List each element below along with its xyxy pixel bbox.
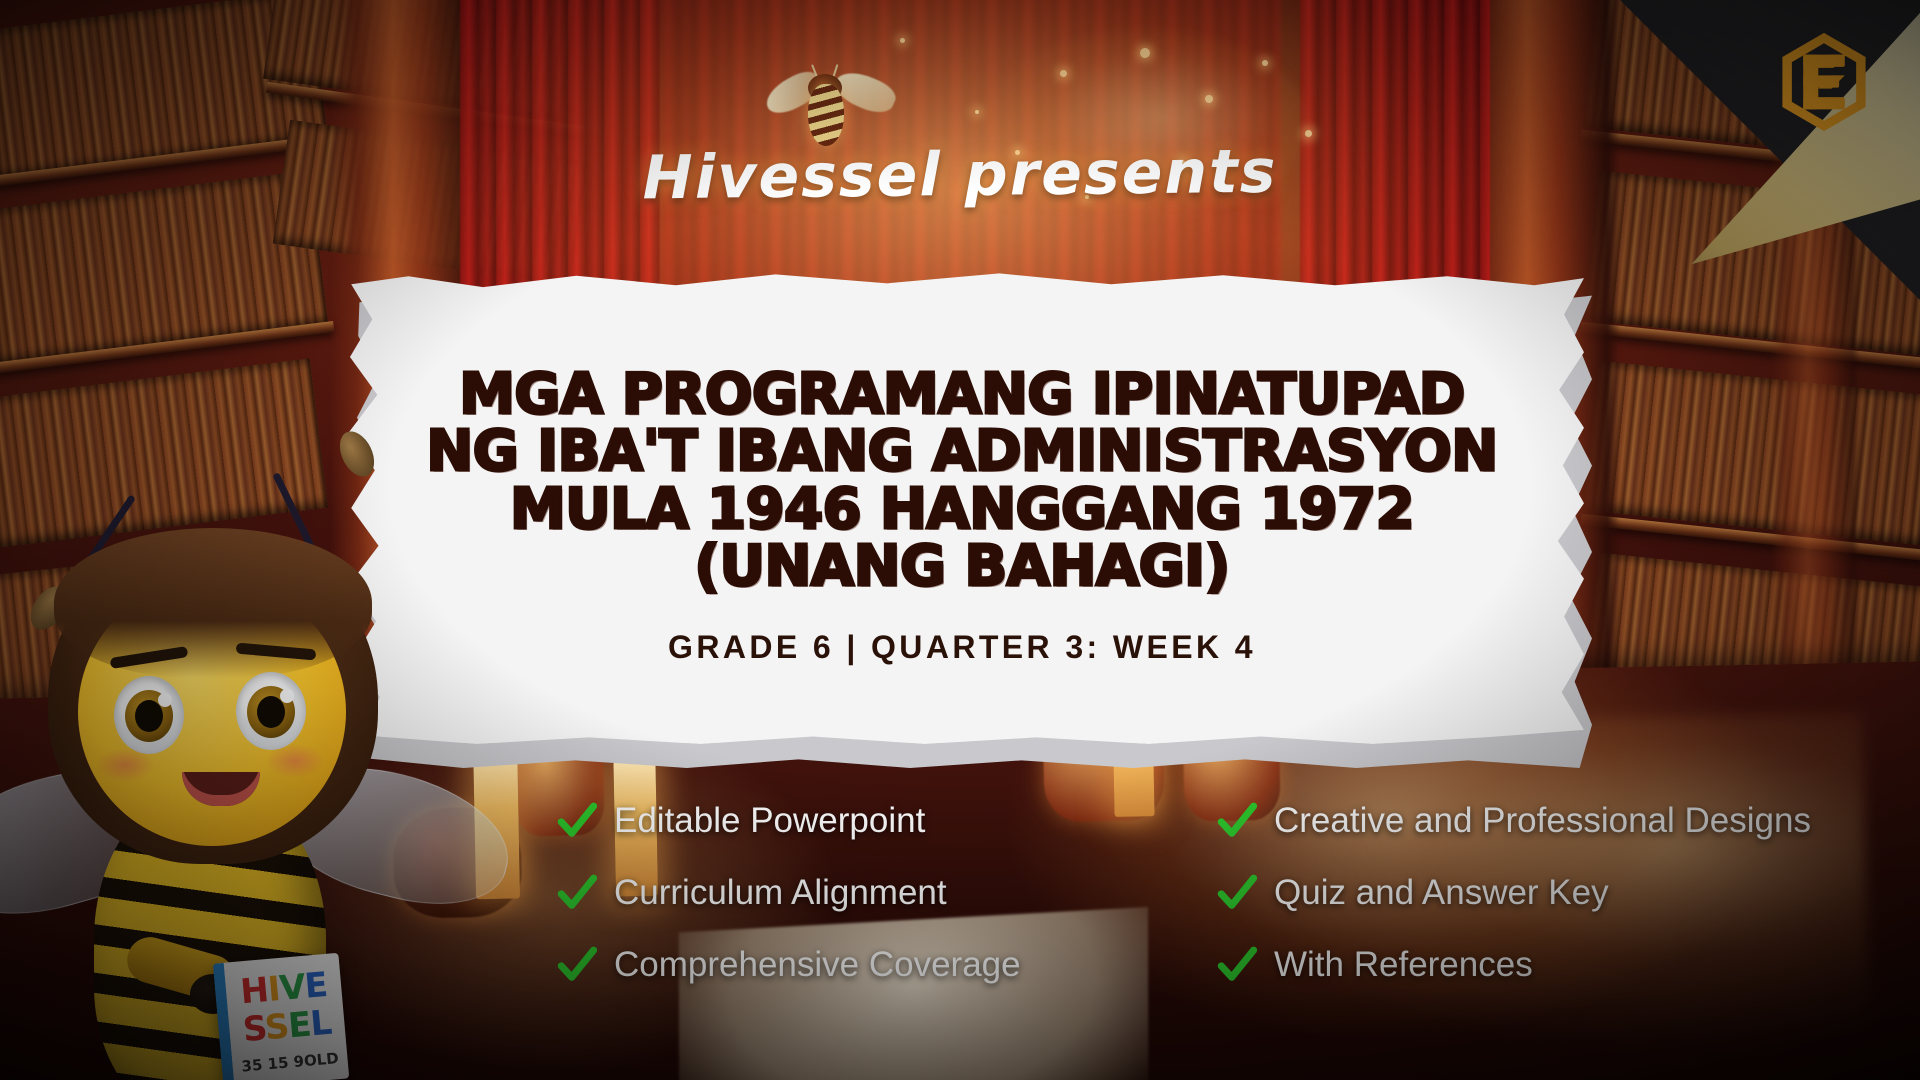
title-card-content: MGA PROGRAMANG IPINATUPAD NG IBA'T IBANG… [340, 272, 1584, 744]
bee-body [808, 84, 844, 146]
page-curl-corner [1620, 0, 1920, 300]
mascot-blush-left [96, 748, 154, 782]
feature-label: Quiz and Answer Key [1274, 873, 1609, 913]
mascot-head [48, 534, 378, 864]
feature-label: Editable Powerpoint [614, 801, 925, 841]
feature-label: Comprehensive Coverage [614, 945, 1021, 985]
mascot-blush-right [266, 744, 324, 778]
mascot-eye-right [236, 672, 306, 750]
feature-label: With References [1274, 945, 1533, 985]
feature-item: With References [1216, 944, 1916, 986]
feature-item: Comprehensive Coverage [556, 944, 1186, 986]
feature-item: Editable Powerpoint [556, 800, 1186, 842]
feature-label: Creative and Professional Designs [1274, 801, 1811, 841]
book-line-2: SSEL [228, 1005, 346, 1049]
feature-item: Creative and Professional Designs [1216, 800, 1916, 842]
book-subtext: 35 15 9OLD [232, 1048, 348, 1076]
check-icon [1216, 872, 1258, 914]
check-icon [556, 944, 598, 986]
mascot-eye-left [114, 676, 184, 754]
feature-list: Editable Powerpoint Creative and Profess… [556, 800, 1916, 986]
bee-mascot: HIVE SSEL 35 15 9OLD [0, 476, 456, 1080]
check-icon [556, 800, 598, 842]
mascot-book: HIVE SSEL 35 15 9OLD [213, 953, 350, 1080]
check-icon [1216, 800, 1258, 842]
feature-item: Quiz and Answer Key [1216, 872, 1916, 914]
mascot-fringe [54, 528, 372, 678]
check-icon [1216, 944, 1258, 986]
feature-label: Curriculum Alignment [614, 873, 947, 913]
check-icon [556, 872, 598, 914]
page-title: MGA PROGRAMANG IPINATUPAD NG IBA'T IBANG… [410, 366, 1514, 594]
grade-quarter-subtitle: GRADE 6 | QUARTER 3: WEEK 4 [668, 629, 1256, 666]
hivessel-hex-logo-icon[interactable] [1776, 30, 1872, 134]
poster-canvas: Hivessel presents MGA PROGRAMANG IPINATU… [0, 0, 1920, 1080]
feature-item: Curriculum Alignment [556, 872, 1186, 914]
